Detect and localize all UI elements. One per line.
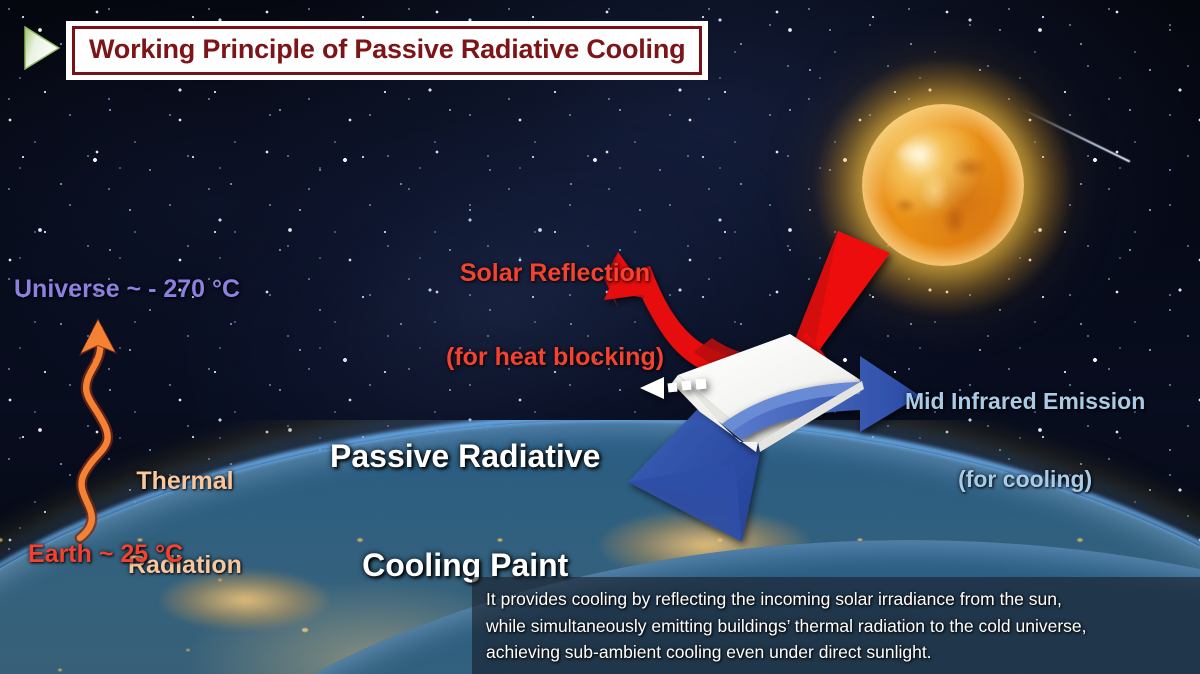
page-title: Working Principle of Passive Radiative C… bbox=[89, 34, 685, 65]
paint-label-line1: Passive Radiative bbox=[330, 438, 600, 474]
caption-line-3: achieving sub-ambient cooling even under… bbox=[486, 639, 1188, 666]
caption-line-2: while simultaneously emitting buildings’… bbox=[486, 613, 1188, 640]
mid-infrared-line2: (for cooling) bbox=[905, 466, 1145, 492]
mid-infrared-emission-label: Mid Infrared Emission (for cooling) bbox=[905, 336, 1145, 544]
universe-temperature-label: Universe ~ - 270 °C bbox=[14, 275, 240, 303]
slide-title-bar: Working Principle of Passive Radiative C… bbox=[66, 21, 708, 80]
caption-line-1: It provides cooling by reflecting the in… bbox=[486, 586, 1188, 613]
thermal-radiation-line1: Thermal bbox=[128, 467, 242, 495]
solar-reflection-line1: Solar Reflection bbox=[446, 259, 664, 287]
orange-wavy-thermal-radiation-arrow bbox=[79, 318, 117, 538]
caption-box: It provides cooling by reflecting the in… bbox=[472, 577, 1200, 674]
slide-canvas: Working Principle of Passive Radiative C… bbox=[0, 0, 1200, 674]
mid-infrared-line1: Mid Infrared Emission bbox=[905, 388, 1145, 414]
play-triangle-icon bbox=[22, 25, 62, 71]
title-inner-border: Working Principle of Passive Radiative C… bbox=[72, 26, 702, 75]
title-box: Working Principle of Passive Radiative C… bbox=[66, 21, 708, 80]
thermal-radiation-label: Thermal Radiation bbox=[128, 410, 242, 636]
